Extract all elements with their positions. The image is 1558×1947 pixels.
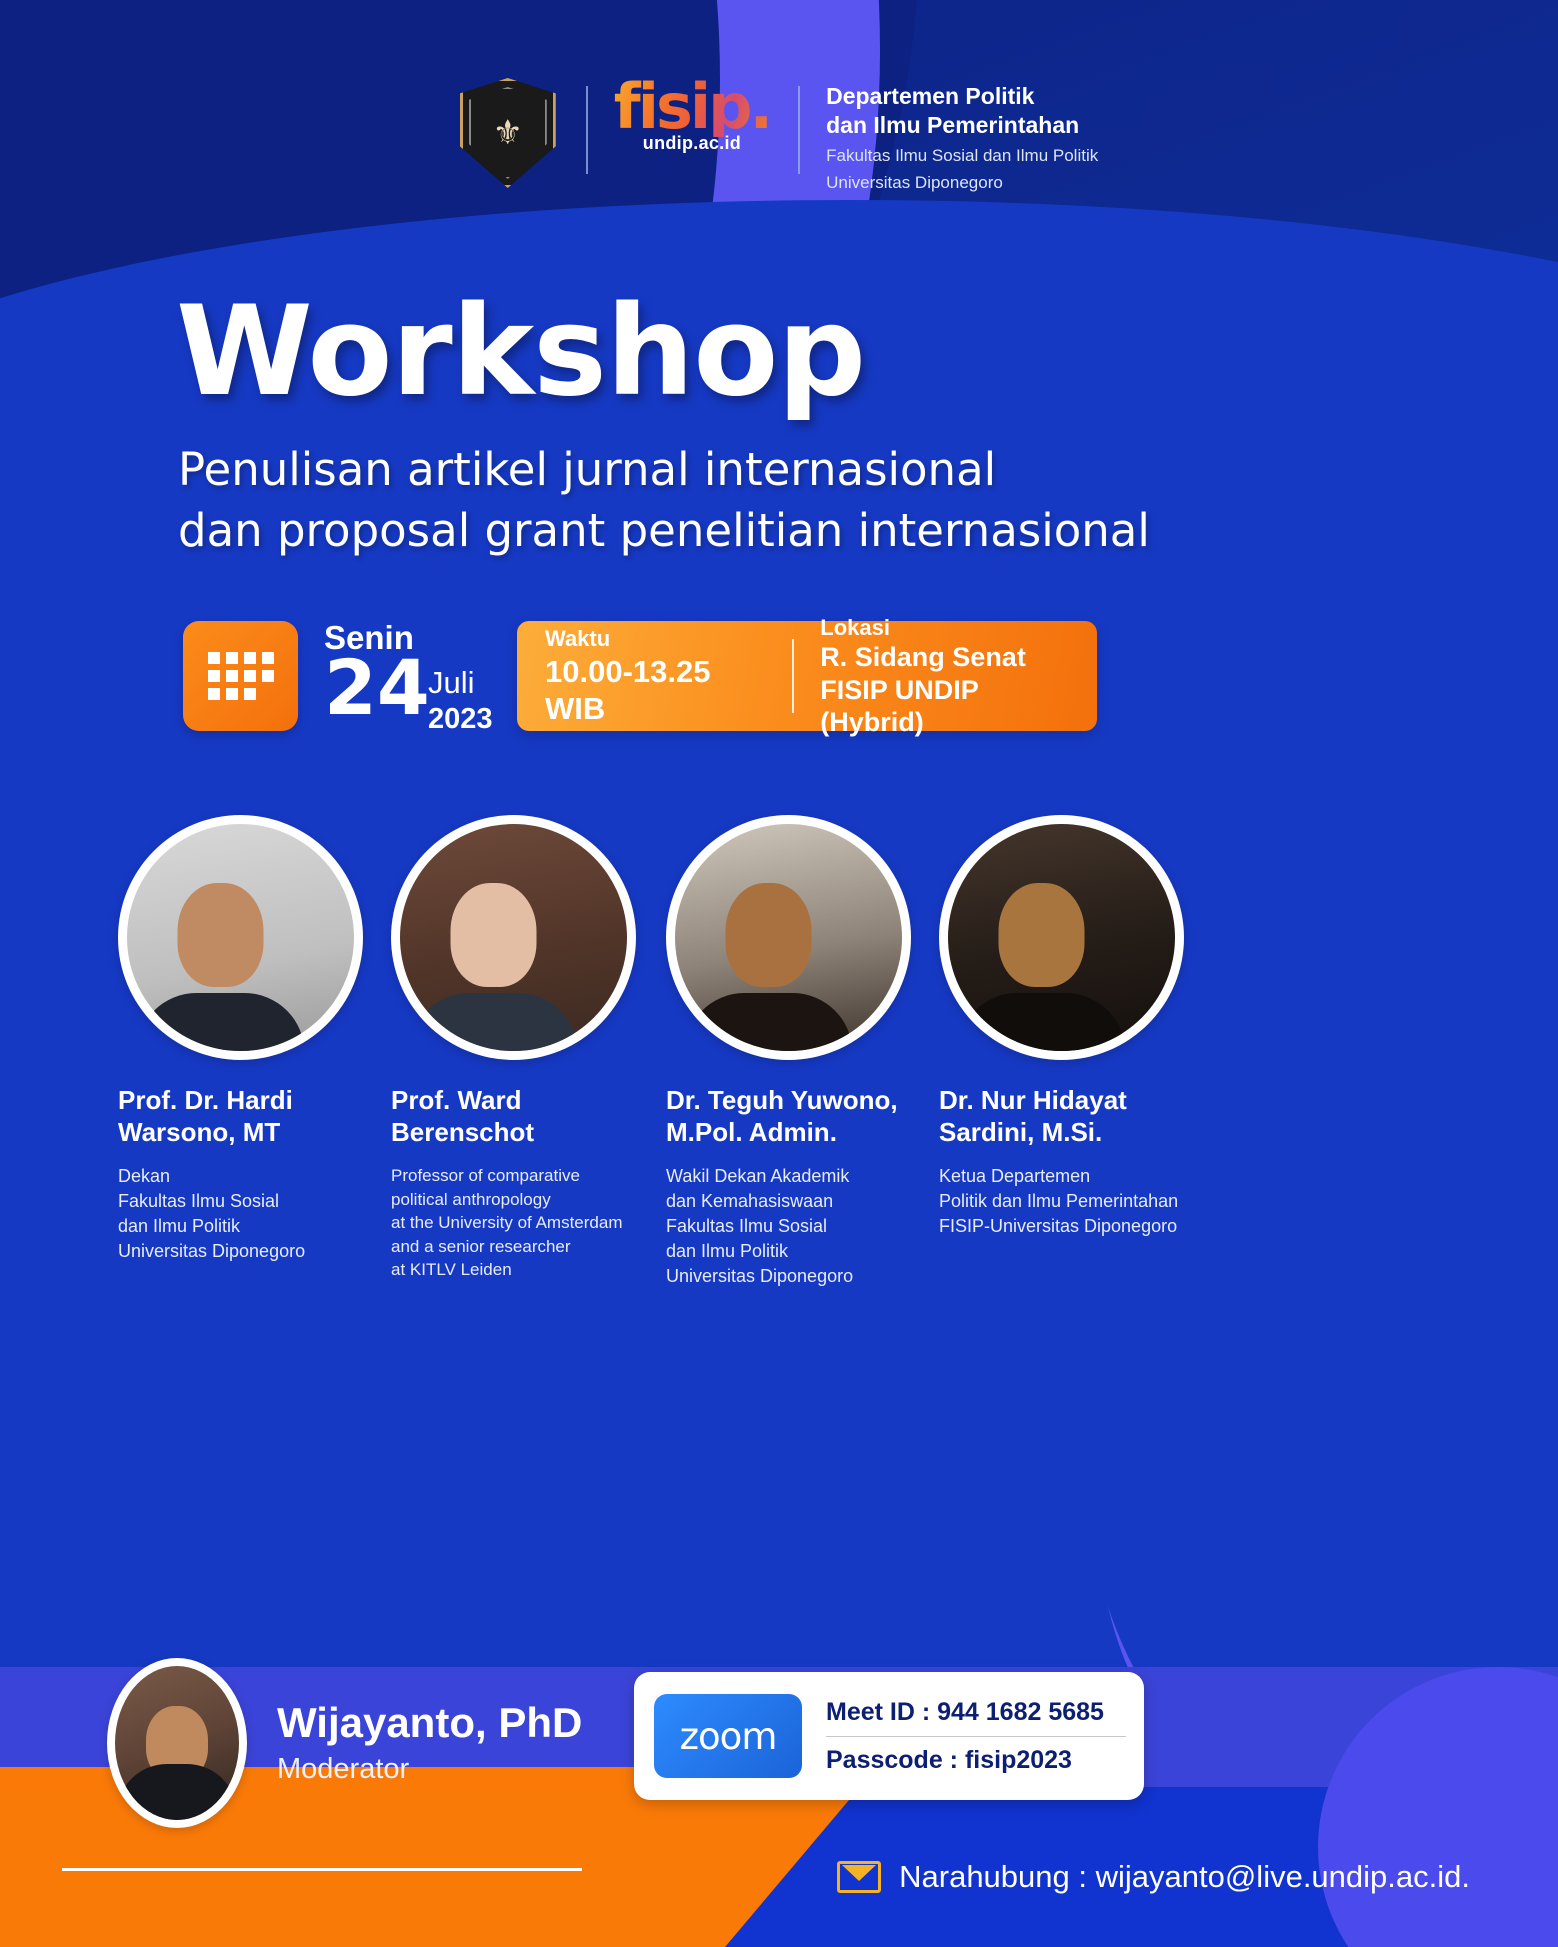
event-time-location-banner: Waktu 10.00-13.25 WIB Lokasi R. Sidang S… — [517, 621, 1097, 731]
zoom-card-divider — [826, 1736, 1126, 1737]
speaker-role: Ketua Departemen Politik dan Ilmu Pemeri… — [939, 1164, 1184, 1238]
speaker-name-line-1: Dr. Teguh Yuwono, — [666, 1084, 911, 1116]
faculty-line-2: Universitas Diponegoro — [826, 172, 1098, 194]
mail-icon — [837, 1861, 881, 1893]
speaker-card: Prof. Dr. Hardi Warsono, MT Dekan Fakult… — [118, 815, 363, 1289]
subtitle-line-1: Penulisan artikel jurnal internasional — [178, 440, 1150, 501]
speaker-name: Dr. Nur Hidayat Sardini, M.Si. — [939, 1084, 1184, 1148]
subtitle-line-2: dan proposal grant penelitian internasio… — [178, 501, 1150, 562]
zoom-passcode: Passcode : fisip2023 — [826, 1746, 1126, 1775]
moderator-avatar — [107, 1658, 247, 1828]
zoom-meet-id: Meet ID : 944 1682 5685 — [826, 1698, 1126, 1727]
department-line-1: Departemen Politik — [826, 82, 1098, 111]
poster-header: ⚜ fisip. undip.ac.id Departemen Politik … — [0, 78, 1558, 194]
event-year: 2023 — [428, 703, 493, 736]
undip-seal-icon: ⚜ — [460, 78, 556, 188]
page-title: Workshop — [176, 290, 865, 414]
avatar — [939, 815, 1184, 1060]
event-date-block: Senin 24 Juli 2023 — [183, 621, 514, 733]
faculty-line-1: Fakultas Ilmu Sosial dan Ilmu Politik — [826, 145, 1098, 167]
poster-canvas: ⚜ fisip. undip.ac.id Departemen Politik … — [0, 0, 1558, 1947]
speaker-role: Wakil Dekan Akademik dan Kemahasiswaan F… — [666, 1164, 911, 1288]
page-subtitle: Penulisan artikel jurnal internasional d… — [178, 440, 1150, 562]
moderator-role: Moderator — [277, 1753, 582, 1786]
avatar — [391, 815, 636, 1060]
speaker-card: Prof. Ward Berenschot Professor of compa… — [391, 815, 636, 1289]
speaker-card: Dr. Teguh Yuwono, M.Pol. Admin. Wakil De… — [666, 815, 911, 1289]
avatar — [666, 815, 911, 1060]
calendar-icon — [183, 621, 298, 731]
speaker-role: Professor of comparative political anthr… — [391, 1164, 636, 1281]
header-divider-1 — [586, 86, 588, 174]
contact-text: Narahubung : wijayanto@live.undip.ac.id. — [899, 1859, 1470, 1895]
location-line-2: FISIP UNDIP (Hybrid) — [820, 674, 1079, 739]
zoom-logo-icon: zoom — [654, 1694, 802, 1778]
event-day-number: 24 — [324, 653, 430, 723]
time-label: Waktu — [545, 625, 770, 653]
department-line-2: dan Ilmu Pemerintahan — [826, 111, 1098, 140]
location-label: Lokasi — [820, 614, 1079, 642]
contact-block[interactable]: Narahubung : wijayanto@live.undip.ac.id. — [837, 1859, 1470, 1895]
speaker-name-line-1: Prof. Ward — [391, 1084, 636, 1116]
zoom-meeting-card[interactable]: zoom Meet ID : 944 1682 5685 Passcode : … — [634, 1672, 1144, 1800]
fisip-wordmark: fisip. — [614, 78, 770, 137]
time-value: 10.00-13.25 WIB — [545, 653, 770, 727]
header-divider-2 — [798, 86, 800, 174]
speaker-name: Dr. Teguh Yuwono, M.Pol. Admin. — [666, 1084, 911, 1148]
location-line-1: R. Sidang Senat — [820, 641, 1079, 673]
speaker-role: Dekan Fakultas Ilmu Sosial dan Ilmu Poli… — [118, 1164, 363, 1263]
avatar — [118, 815, 363, 1060]
speaker-name: Prof. Ward Berenschot — [391, 1084, 636, 1148]
fisip-logo: fisip. undip.ac.id — [614, 78, 770, 154]
moderator-name: Wijayanto, PhD — [277, 1700, 582, 1746]
speaker-name-line-2: Warsono, MT — [118, 1116, 363, 1148]
speaker-name-line-2: Sardini, M.Si. — [939, 1116, 1184, 1148]
zoom-wordmark: zoom — [680, 1715, 777, 1758]
speaker-name-line-2: M.Pol. Admin. — [666, 1116, 911, 1148]
speaker-card: Dr. Nur Hidayat Sardini, M.Si. Ketua Dep… — [939, 815, 1184, 1289]
event-month: Juli — [428, 665, 475, 701]
footer-rule — [62, 1868, 582, 1871]
speaker-list: Prof. Dr. Hardi Warsono, MT Dekan Fakult… — [118, 815, 1128, 1289]
moderator-block: Wijayanto, PhD Moderator — [107, 1658, 582, 1828]
speaker-name-line-1: Prof. Dr. Hardi — [118, 1084, 363, 1116]
speaker-name-line-1: Dr. Nur Hidayat — [939, 1084, 1184, 1116]
speaker-name: Prof. Dr. Hardi Warsono, MT — [118, 1084, 363, 1148]
speaker-name-line-2: Berenschot — [391, 1116, 636, 1148]
department-block: Departemen Politik dan Ilmu Pemerintahan… — [826, 78, 1098, 194]
